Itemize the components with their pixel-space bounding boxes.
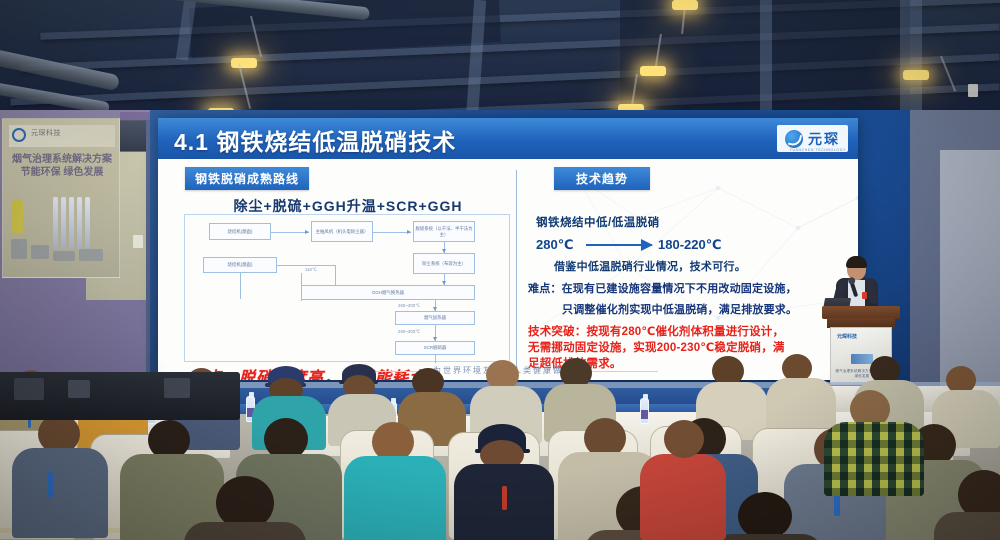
exhibition-booth-banner: 元琛科技 烟气治理系统解决方案 节能环保 绿色发展 bbox=[2, 118, 120, 278]
podium-logo: 元琛科技 bbox=[837, 333, 857, 340]
temperature-from: 280℃ bbox=[536, 237, 573, 253]
eye-swoosh-icon bbox=[785, 130, 803, 148]
breakthrough-line-2: 无需挪动固定设施，实现200-230℃稳定脱硝，满 bbox=[528, 340, 858, 356]
ceiling-lamp-icon bbox=[640, 66, 666, 76]
flow-box: GGH烟气换热器 bbox=[301, 285, 475, 300]
flow-box: 烟气加热器 bbox=[395, 311, 475, 325]
lanyard bbox=[48, 472, 53, 498]
booth-product-images bbox=[9, 193, 115, 271]
temperature-to: 180-220℃ bbox=[658, 237, 721, 253]
ceiling-lamp-icon bbox=[903, 70, 929, 80]
company-logo-subtext: YUANCHEN TECHNOLOGY bbox=[790, 148, 846, 152]
booth-banner-title: 烟气治理系统解决方案 节能环保 绿色发展 bbox=[11, 153, 113, 179]
ceiling-lamp-icon bbox=[231, 58, 257, 68]
difficulty-line-2: 只调整催化剂实现中低温脱硝，满足排放要求。 bbox=[528, 301, 858, 317]
foreground-equipment-panel bbox=[164, 378, 190, 398]
booth-logo-icon bbox=[12, 128, 26, 142]
route-title: 除尘+脱硫+GGH升温+SCR+GGH bbox=[188, 196, 508, 216]
ceiling-lamp-icon bbox=[672, 0, 698, 10]
flow-box: 烧结机(烟囱) bbox=[209, 223, 271, 240]
trend-line-1: 钢铁烧结中低/低温脱硝 bbox=[536, 214, 660, 230]
foreground-equipment-panel bbox=[68, 380, 90, 398]
presentation-slide: 4.1 钢铁烧结低温脱硝技术 元琛 YUANCHEN TECHNOLOGY 钢铁… bbox=[158, 118, 858, 380]
right-panel-header: 技术趋势 bbox=[554, 167, 650, 190]
flow-box: 脱硫系统（以干法、半干法为主） bbox=[413, 221, 475, 242]
lanyard bbox=[502, 486, 507, 510]
difficulty-block: 难点：在现有已建设施容量情况下不用改动固定设施， 只调整催化剂实现中低温脱硝，满… bbox=[528, 280, 858, 317]
conference-room-scene: 元琛科技 烟气治理系统解决方案 节能环保 绿色发展 bbox=[0, 0, 1000, 540]
breakthrough-line-1: 技术突破：按现有280℃催化剂体积量进行设计， bbox=[528, 324, 858, 340]
foreground-equipment-panel bbox=[14, 378, 44, 400]
difficulty-line-1: 难点：在现有已建设施容量情况下不用改动固定设施， bbox=[528, 280, 858, 296]
flow-box: 主抽风机（机头电除尘器） bbox=[311, 221, 373, 242]
company-name: 元琛 bbox=[808, 129, 840, 149]
speaker-badge bbox=[862, 292, 867, 299]
trend-line-2: 借鉴中低温脱硝行业情况，技术可行。 bbox=[554, 258, 746, 274]
left-panel-header: 钢铁脱硝成熟路线 bbox=[185, 167, 309, 190]
flow-box: SCR脱硝器 bbox=[395, 341, 475, 355]
booth-brand: 元琛科技 bbox=[31, 128, 61, 138]
panel-divider bbox=[516, 170, 517, 370]
ceiling bbox=[0, 0, 1000, 125]
podium-emblem-icon bbox=[851, 354, 873, 364]
water-bottle bbox=[640, 398, 649, 424]
flow-box: 除尘系统（布袋为主） bbox=[413, 253, 475, 274]
slide-title: 4.1 钢铁烧结低温脱硝技术 bbox=[174, 123, 456, 157]
flow-box: 烧结机(烟囱) bbox=[203, 257, 277, 273]
right-wall-panel bbox=[940, 150, 1000, 400]
process-flow-diagram: 烧结机(烟囱) 主抽风机（机头电除尘器） 脱硫系统（以干法、半干法为主） 除尘系… bbox=[184, 214, 510, 362]
trend-arrow-icon bbox=[586, 244, 652, 246]
